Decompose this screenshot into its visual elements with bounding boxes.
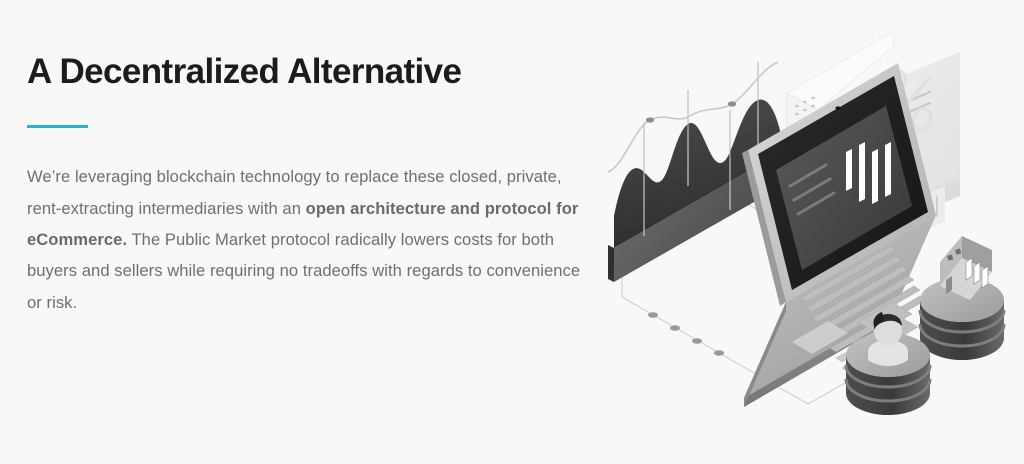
page-title: A Decentralized Alternative <box>27 52 600 92</box>
hero-section: A Decentralized Alternative We’re levera… <box>0 0 1024 464</box>
database-seller <box>920 236 1004 360</box>
accent-divider <box>27 125 88 128</box>
text-column: A Decentralized Alternative We’re levera… <box>0 0 600 318</box>
body-paragraph: We’re leveraging blockchain technology t… <box>27 161 597 318</box>
illustration <box>600 0 1024 464</box>
illustration-canvas <box>600 0 1024 464</box>
